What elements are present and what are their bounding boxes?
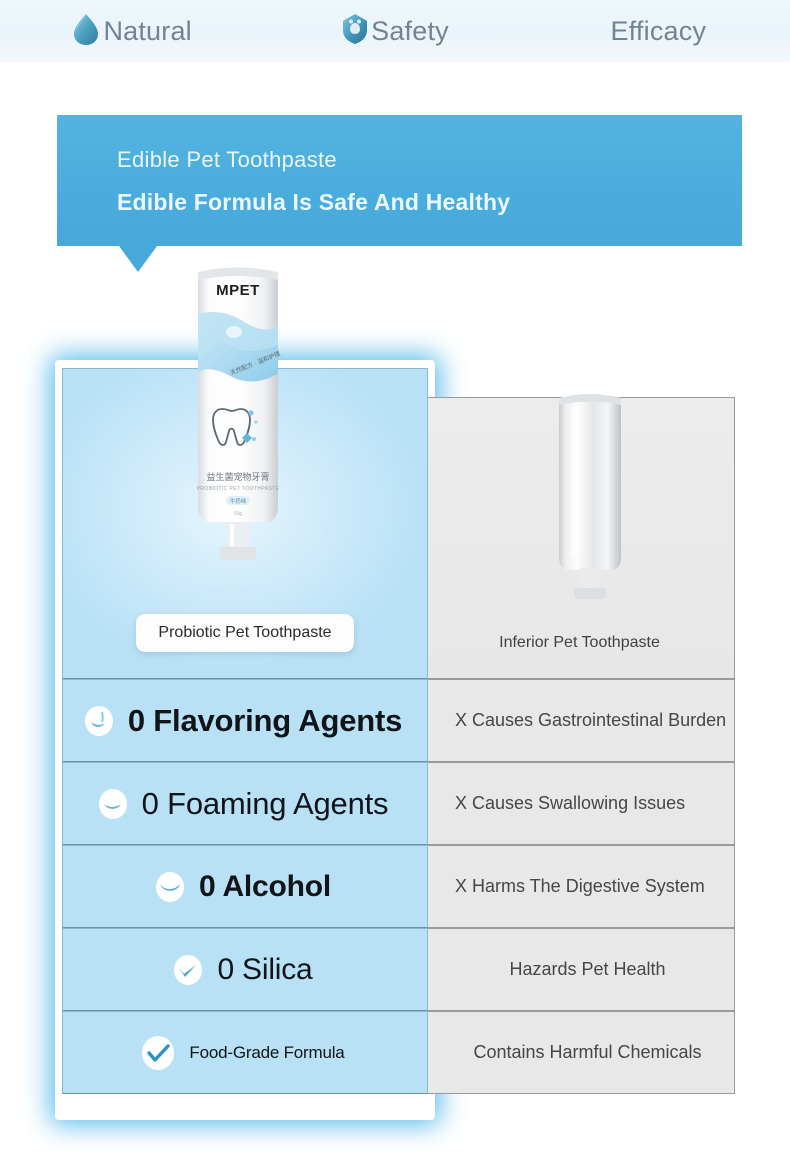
bad-cell-4: Contains Harmful Chemicals — [425, 1011, 735, 1094]
banner-subtitle: Edible Formula Is Safe And Healthy — [117, 189, 742, 216]
tab-efficacy[interactable]: Efficacy — [527, 0, 790, 62]
bad-product-tube-image — [547, 390, 633, 605]
tab-safety-label: Safety — [371, 16, 449, 47]
table-row: 0 Foaming Agents X Causes Swallowing Iss… — [62, 762, 738, 845]
svg-text:MPET: MPET — [216, 282, 260, 299]
table-row: Food-Grade Formula Contains Harmful Chem… — [62, 1011, 738, 1094]
tab-natural-label: Natural — [103, 16, 191, 47]
good-cell-4: Food-Grade Formula — [62, 1011, 428, 1094]
bad-product-label: Inferior Pet Toothpaste — [499, 634, 660, 652]
check-circle-icon — [139, 1034, 177, 1072]
bad-cell-0: X Causes Gastrointestinal Burden — [425, 679, 735, 762]
bad-feature-text-0: X Causes Gastrointestinal Burden — [455, 710, 734, 731]
good-feature-text-3: 0 Silica — [217, 953, 312, 987]
bad-cell-2: X Harms The Digestive System — [425, 845, 735, 928]
svg-text:益生菌宠物牙膏: 益生菌宠物牙膏 — [206, 471, 269, 482]
good-feature-text-0: 0 Flavoring Agents — [128, 703, 402, 739]
bad-feature-text-3: Hazards Pet Health — [455, 959, 734, 980]
table-row-hero: Probiotic Pet Toothpaste Inferior Pet To… — [62, 368, 738, 679]
comparison-table: Probiotic Pet Toothpaste Inferior Pet To… — [62, 368, 738, 1094]
bad-feature-text-2: X Harms The Digestive System — [455, 876, 734, 897]
check-badge-icon — [96, 787, 130, 821]
check-badge-icon — [171, 953, 205, 987]
good-feature-text-1: 0 Foaming Agents — [142, 786, 389, 822]
banner-pointer-tail — [119, 246, 157, 272]
tab-natural[interactable]: Natural — [0, 0, 263, 62]
tab-efficacy-label: Efficacy — [611, 16, 707, 47]
svg-text:PROBIOTIC PET TOOTHPASTE: PROBIOTIC PET TOOTHPASTE — [197, 486, 280, 492]
table-row: 0 Silica Hazards Pet Health — [62, 928, 738, 1011]
top-tab-bar: Natural Safety Efficacy — [0, 0, 790, 62]
bad-feature-text-4: Contains Harmful Chemicals — [455, 1042, 734, 1063]
bad-cell-1: X Causes Swallowing Issues — [425, 762, 735, 845]
banner-title: Edible Pet Toothpaste — [117, 147, 742, 173]
good-cell-0: 0 Flavoring Agents — [62, 679, 428, 762]
shield-paw-icon — [341, 13, 369, 50]
table-row: 0 Flavoring Agents X Causes Gastrointest… — [62, 679, 738, 762]
svg-text:60g: 60g — [234, 511, 243, 517]
good-product-label: Probiotic Pet Toothpaste — [136, 614, 353, 652]
check-badge-icon — [82, 704, 116, 738]
table-row: 0 Alcohol X Harms The Digestive System — [62, 845, 738, 928]
svg-text:牛奶味: 牛奶味 — [230, 497, 247, 505]
banner-body: Edible Pet Toothpaste Edible Formula Is … — [57, 115, 742, 246]
good-product-tube-image: MPET 天然配方 · 温和护理 益生菌宠物牙膏 PROBIOTIC PET T… — [186, 262, 290, 567]
leaf-drop-icon — [71, 12, 101, 51]
headline-banner: Edible Pet Toothpaste Edible Formula Is … — [57, 115, 742, 246]
good-cell-3: 0 Silica — [62, 928, 428, 1011]
bad-cell-3: Hazards Pet Health — [425, 928, 735, 1011]
good-feature-text-4: Food-Grade Formula — [189, 1043, 344, 1063]
bad-feature-text-1: X Causes Swallowing Issues — [455, 793, 734, 814]
good-cell-2: 0 Alcohol — [62, 845, 428, 928]
good-feature-text-2: 0 Alcohol — [199, 870, 331, 904]
tab-safety[interactable]: Safety — [263, 0, 526, 62]
check-badge-icon — [153, 870, 187, 904]
good-cell-1: 0 Foaming Agents — [62, 762, 428, 845]
